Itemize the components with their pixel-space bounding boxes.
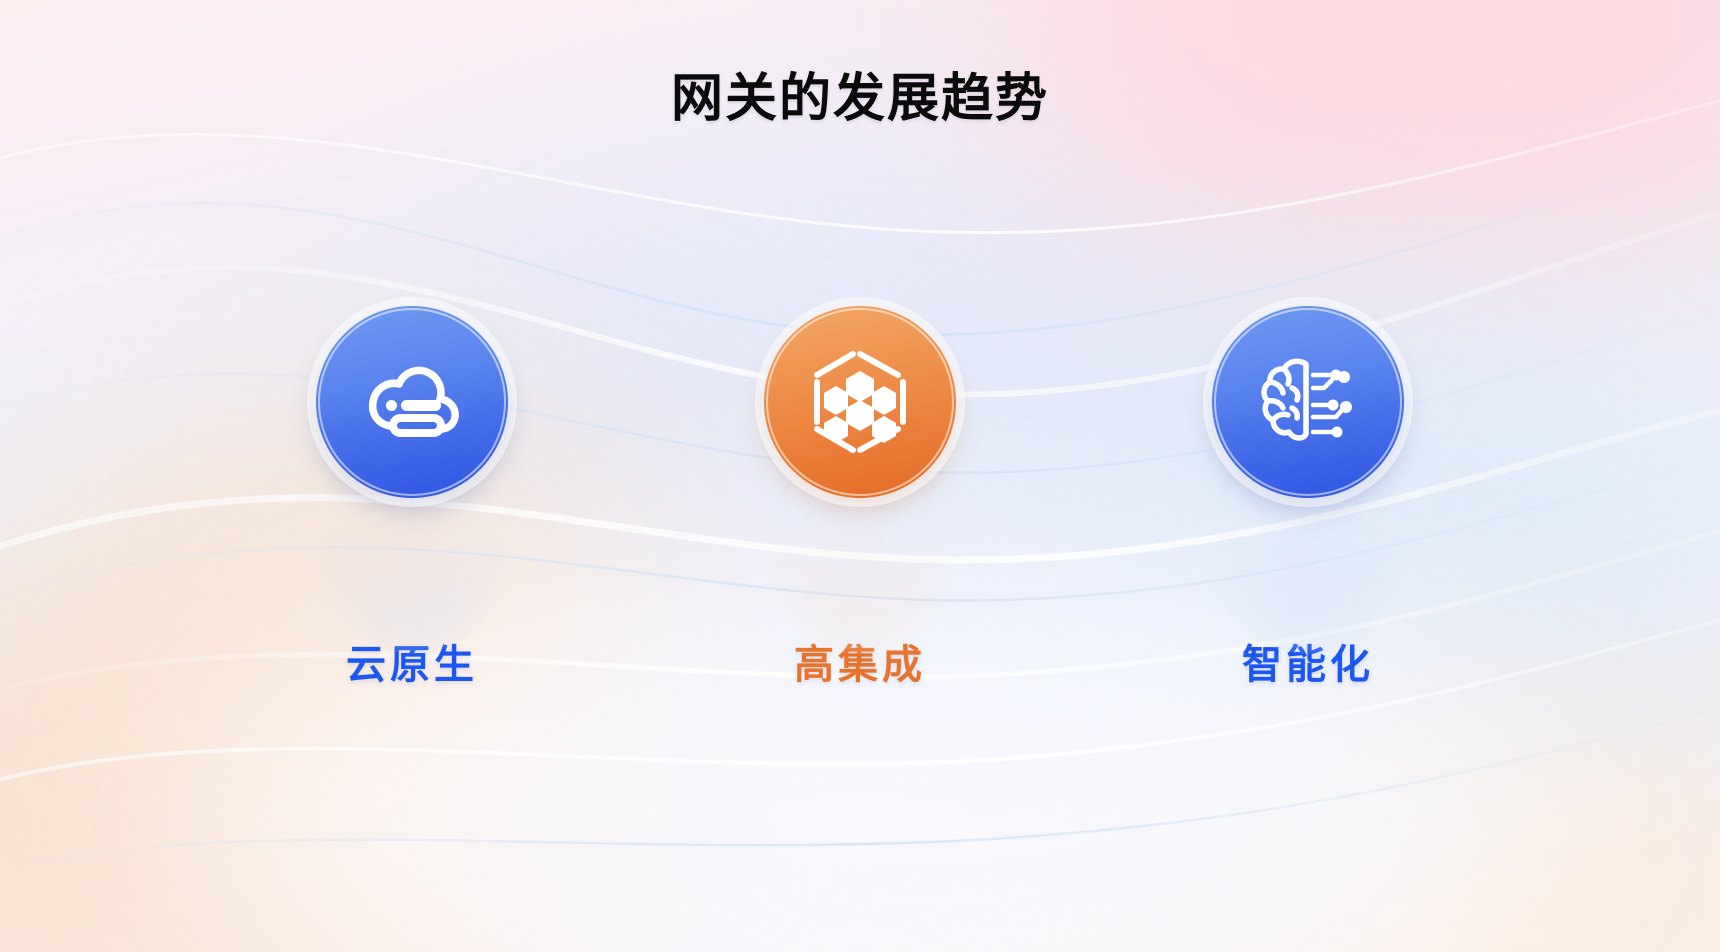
badge-wrapper-intelligent [1202,296,1414,508]
badge-wrapper-high-integration [754,296,966,508]
page-title: 网关的发展趋势 [0,56,1720,131]
background-blob-pink [1000,0,1720,280]
hexagon-cluster-icon [806,348,914,456]
badge-circle-intelligent[interactable] [1212,306,1404,498]
background-blob-peach-right [1280,702,1720,952]
brain-circuit-icon [1256,350,1360,454]
trend-label-intelligent: 智能化 [1242,632,1374,690]
badge-circle-high-integration[interactable] [764,306,956,498]
badge-wrapper-cloud-native [306,296,518,508]
cloud-server-icon [360,350,464,454]
trend-items-row: 云原生 [0,296,1720,690]
trend-label-high-integration: 高集成 [794,632,926,690]
trend-item-high-integration[interactable]: 高集成 [745,296,975,690]
badge-circle-cloud-native[interactable] [316,306,508,498]
trend-item-cloud-native[interactable]: 云原生 [297,296,527,690]
trend-item-intelligent[interactable]: 智能化 [1193,296,1423,690]
slide-canvas: 网关的发展趋势 [0,0,1720,952]
trend-label-cloud-native: 云原生 [346,632,478,690]
